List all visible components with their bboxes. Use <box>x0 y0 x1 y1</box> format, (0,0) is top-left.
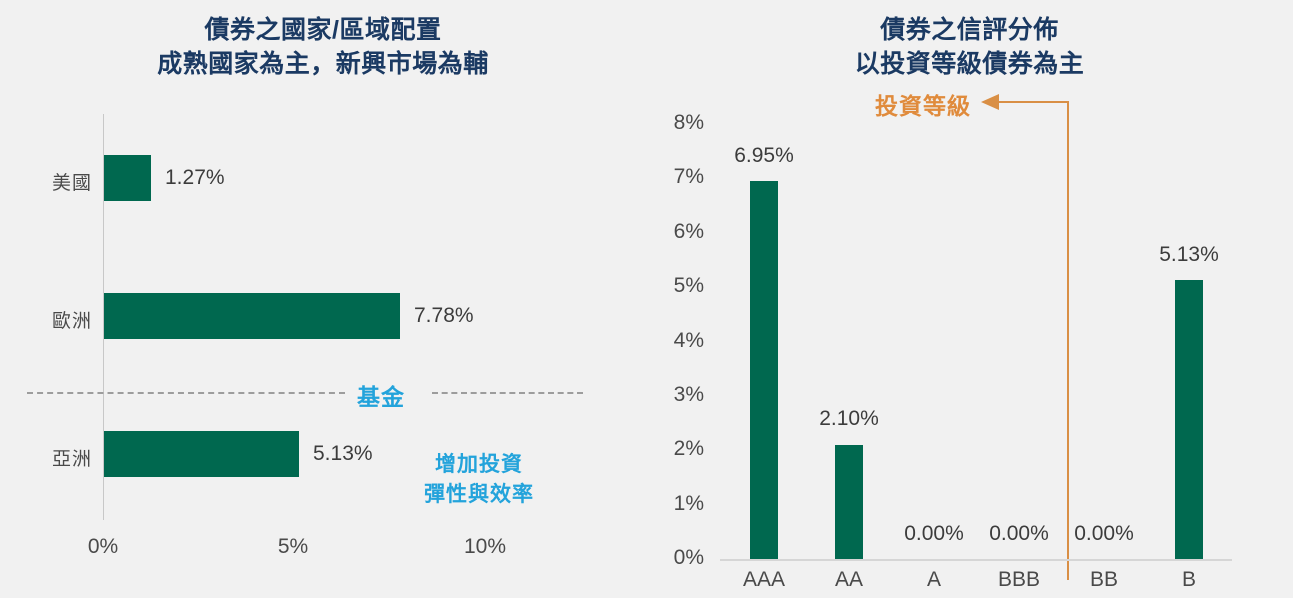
fund-divider-line-right <box>432 392 583 394</box>
right-chart-value-label-5: 5.13% <box>1129 243 1249 267</box>
left-chart-category-label-2: 亞洲 <box>10 444 92 471</box>
right-chart-ytick-1: 1% <box>650 492 704 516</box>
fund-divider-line-left <box>27 392 345 394</box>
left-chart-category-label-0: 美國 <box>10 168 92 195</box>
investment-grade-label: 投資等級 <box>826 87 971 121</box>
right-chart-category-label-1: AA <box>804 568 894 592</box>
left-chart-annotation: 增加投資 彈性與效率 <box>424 450 534 510</box>
right-chart-category-label-5: B <box>1144 568 1234 592</box>
left-chart-bar-1 <box>104 293 400 339</box>
left-chart-bar-0 <box>104 155 151 201</box>
right-chart-value-label-0: 6.95% <box>704 144 824 168</box>
right-chart-ytick-8: 8% <box>650 111 704 135</box>
right-chart-category-label-4: BB <box>1059 568 1149 592</box>
left-chart-annotation-line2: 彈性與效率 <box>424 480 534 510</box>
left-chart-xtick-2: 10% <box>445 535 525 559</box>
right-chart-plot-area: 投資等級 0% 1% 2% 3% 4% 5% 6% 7% 8% 6.95% AA… <box>646 0 1293 598</box>
right-chart-ytick-0: 0% <box>650 546 704 570</box>
right-chart-baseline <box>720 559 1232 561</box>
left-chart-category-label-1: 歐洲 <box>10 306 92 333</box>
right-chart-value-label-1: 2.10% <box>789 407 909 431</box>
right-chart-ytick-4: 4% <box>650 329 704 353</box>
right-chart-ytick-6: 6% <box>650 220 704 244</box>
left-chart-bar-2 <box>104 431 299 477</box>
left-chart-plot-area: 美國 1.27% 歐洲 7.78% 亞洲 5.13% 基金 增加投資 彈性與效率… <box>0 0 646 598</box>
investment-grade-arrow-icon <box>981 94 999 110</box>
investment-grade-divider-line <box>1067 102 1069 580</box>
fund-divider-label: 基金 <box>357 378 405 412</box>
investment-grade-connector-horizontal <box>998 101 1069 103</box>
right-chart-value-label-4: 0.00% <box>1044 522 1164 546</box>
right-chart-ytick-3: 3% <box>650 383 704 407</box>
left-chart-value-label-0: 1.27% <box>165 166 225 190</box>
country-allocation-chart-panel: 債券之國家/區域配置 成熟國家為主，新興市場為輔 美國 1.27% 歐洲 7.7… <box>0 0 646 598</box>
right-chart-ytick-7: 7% <box>650 165 704 189</box>
right-chart-category-label-3: BBB <box>974 568 1064 592</box>
left-chart-value-label-2: 5.13% <box>313 442 373 466</box>
right-chart-category-label-0: AAA <box>719 568 809 592</box>
left-chart-xtick-1: 5% <box>253 535 333 559</box>
right-chart-bar-1 <box>835 445 863 559</box>
right-chart-bar-0 <box>750 181 778 559</box>
right-chart-bar-5 <box>1175 280 1203 559</box>
left-chart-xtick-0: 0% <box>63 535 143 559</box>
credit-rating-chart-panel: 債券之信評分佈 以投資等級債券為主 投資等級 0% 1% 2% 3% 4% 5%… <box>646 0 1293 598</box>
right-chart-ytick-5: 5% <box>650 274 704 298</box>
right-chart-ytick-2: 2% <box>650 437 704 461</box>
left-chart-value-label-1: 7.78% <box>414 304 474 328</box>
left-chart-annotation-line1: 增加投資 <box>424 450 534 480</box>
right-chart-category-label-2: A <box>889 568 979 592</box>
